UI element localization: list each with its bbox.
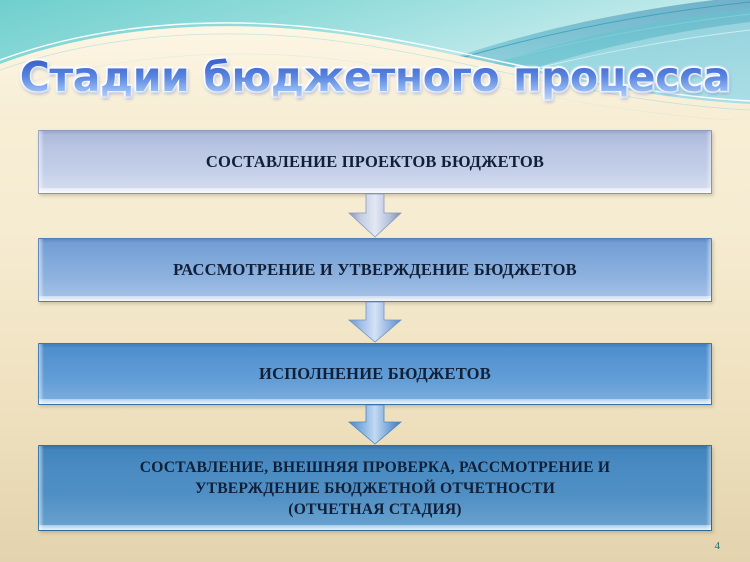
slide-canvas: Стадии бюджетного процесса Стадии бюджет…: [0, 0, 750, 562]
bevel-left: [39, 239, 44, 301]
page-title: Стадии бюджетного процесса: [0, 52, 750, 102]
stage-box-4[interactable]: СОСТАВЛЕНИЕ, ВНЕШНЯЯ ПРОВЕРКА, РАССМОТРЕ…: [38, 445, 712, 531]
stage-box-3[interactable]: ИСПОЛНЕНИЕ БЮДЖЕТОВ: [38, 343, 712, 405]
stage-box-2[interactable]: РАССМОТРЕНИЕ И УТВЕРЖДЕНИЕ БЮДЖЕТОВ: [38, 238, 712, 302]
stage-label-4-line-1: СОСТАВЛЕНИЕ, ВНЕШНЯЯ ПРОВЕРКА, РАССМОТРЕ…: [140, 457, 610, 478]
bevel-right: [706, 239, 711, 301]
down-arrow-icon: [344, 405, 406, 445]
page-number: 4: [715, 540, 721, 552]
down-arrow-icon: [344, 302, 406, 343]
stage-label-3: ИСПОЛНЕНИЕ БЮДЖЕТОВ: [259, 364, 491, 384]
budget-process-flow: СОСТАВЛЕНИЕ ПРОЕКТОВ БЮДЖЕТОВ: [38, 130, 712, 531]
stage-box-1[interactable]: СОСТАВЛЕНИЕ ПРОЕКТОВ БЮДЖЕТОВ: [38, 130, 712, 194]
bevel-top: [39, 131, 711, 136]
stage-label-4-line-2: УТВЕРЖДЕНИЕ БЮДЖЕТНОЙ ОТЧЕТНОСТИ: [195, 478, 555, 499]
bevel-top: [39, 446, 711, 451]
stage-label-1: СОСТАВЛЕНИЕ ПРОЕКТОВ БЮДЖЕТОВ: [206, 152, 544, 172]
connector-1: [38, 194, 712, 238]
bevel-left: [39, 446, 44, 530]
stage-label-4-line-3: (ОТЧЕТНАЯ СТАДИЯ): [288, 499, 461, 520]
bevel-left: [39, 131, 44, 193]
bevel-right: [706, 446, 711, 530]
bevel-top: [39, 239, 711, 244]
bevel-bottom: [39, 525, 711, 530]
bevel-bottom: [39, 296, 711, 301]
page-title-text: Стадии бюджетного процесса: [20, 52, 731, 102]
bevel-bottom: [39, 399, 711, 404]
connector-3: [38, 405, 712, 445]
bevel-left: [39, 344, 44, 404]
bevel-right: [706, 131, 711, 193]
down-arrow-icon: [344, 194, 406, 238]
bevel-bottom: [39, 188, 711, 193]
stage-label-2: РАССМОТРЕНИЕ И УТВЕРЖДЕНИЕ БЮДЖЕТОВ: [173, 260, 577, 280]
bevel-top: [39, 344, 711, 349]
bevel-right: [706, 344, 711, 404]
connector-2: [38, 302, 712, 343]
